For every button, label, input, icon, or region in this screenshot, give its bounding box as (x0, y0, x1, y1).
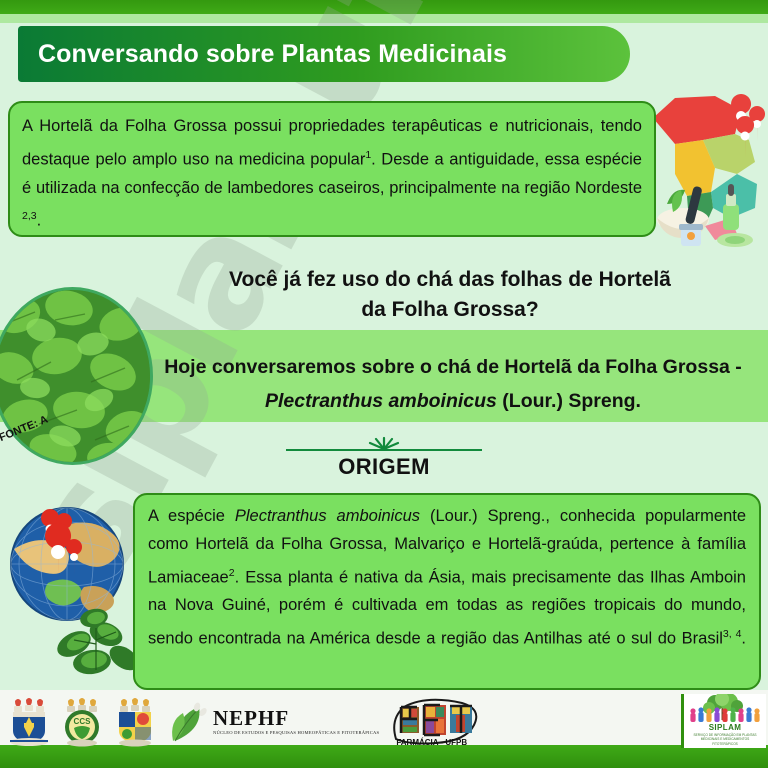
body-text-4: . (741, 629, 746, 647)
intro-paragraph: A Hortelã da Folha Grossa possui proprie… (22, 112, 642, 264)
nephf-leaf-icon (167, 699, 211, 745)
jar-icon (679, 224, 703, 246)
body-text-1: A espécie (148, 507, 235, 525)
subheading-species-name: Plectranthus amboinicus (265, 390, 497, 412)
origem-section-header: ORIGEM (286, 437, 482, 480)
question-line-1: Você já fez uso do chá das folhas de Hor… (150, 265, 750, 295)
plant-leaves-image (0, 290, 150, 462)
nephf-logo: NEPHF NÚCLEO DE ESTUDOS E PESQUISAS HOME… (167, 699, 379, 745)
page-title: Conversando sobre Plantas Medicinais (38, 40, 507, 69)
nephf-subtitle: NÚCLEO DE ESTUDOS E PESQUISAS HOMEOPÁTIC… (213, 731, 379, 736)
svg-text:CCS: CCS (74, 717, 92, 726)
background-top-stripe (0, 14, 768, 23)
poster-title-bar: Conversando sobre Plantas Medicinais (18, 26, 630, 82)
siplam-logo: SIPLAM SERVIÇO DE INFORMAÇÃO EM PLANTAS … (681, 694, 766, 748)
origem-title: ORIGEM (286, 454, 482, 480)
intro-text-box: A Hortelã da Folha Grossa possui proprie… (8, 101, 656, 237)
farmacia-crest-logo (112, 697, 158, 747)
body-paragraph: A espécie Plectranthus amboinicus (Lour.… (148, 502, 746, 681)
subheading: Hoje conversaremos sobre o chá de Hortel… (148, 350, 758, 418)
nephf-name: NEPHF (213, 708, 379, 729)
mint-leaves-illustration (52, 600, 142, 680)
poster-canvas: siplamufpb (0, 0, 768, 768)
body-text-3: . Essa planta é nativa da Ásia, mais pre… (148, 568, 746, 647)
pet-subtitle: FARMÁCIA - UFPB (396, 738, 467, 747)
siplam-tree-people-icon (685, 694, 765, 724)
sprout-burst-icon (364, 435, 404, 451)
subheading-part-1: Hoje conversaremos sobre o chá de Hortel… (164, 356, 742, 378)
origem-divider (286, 437, 482, 453)
body-text-box: A espécie Plectranthus amboinicus (Lour.… (133, 493, 761, 690)
ufpb-crest-logo (6, 697, 52, 747)
intro-ref-2: 2,3 (22, 210, 37, 222)
question-heading: Você já fez uso do chá das folhas de Hor… (150, 265, 750, 325)
siplam-subtitle: SERVIÇO DE INFORMAÇÃO EM PLANTAS MEDICIN… (688, 733, 762, 746)
subheading-part-2: (Lour.) Spreng. (497, 390, 641, 412)
body-species-name: Plectranthus amboinicus (235, 507, 420, 525)
plant-photo (0, 287, 153, 465)
background-top-bar (0, 0, 768, 14)
intro-text-3: . (37, 212, 42, 230)
body-ref-34: 3, 4 (723, 628, 742, 640)
footer-logo-row: CCS (6, 695, 482, 749)
question-line-2: da Folha Grossa? (150, 295, 750, 325)
siplam-name: SIPLAM (709, 723, 742, 732)
pet-logo: FARMÁCIA - UFPB (390, 697, 482, 747)
brazil-map-illustration (645, 88, 765, 248)
ccs-crest-logo: CCS (59, 697, 105, 747)
